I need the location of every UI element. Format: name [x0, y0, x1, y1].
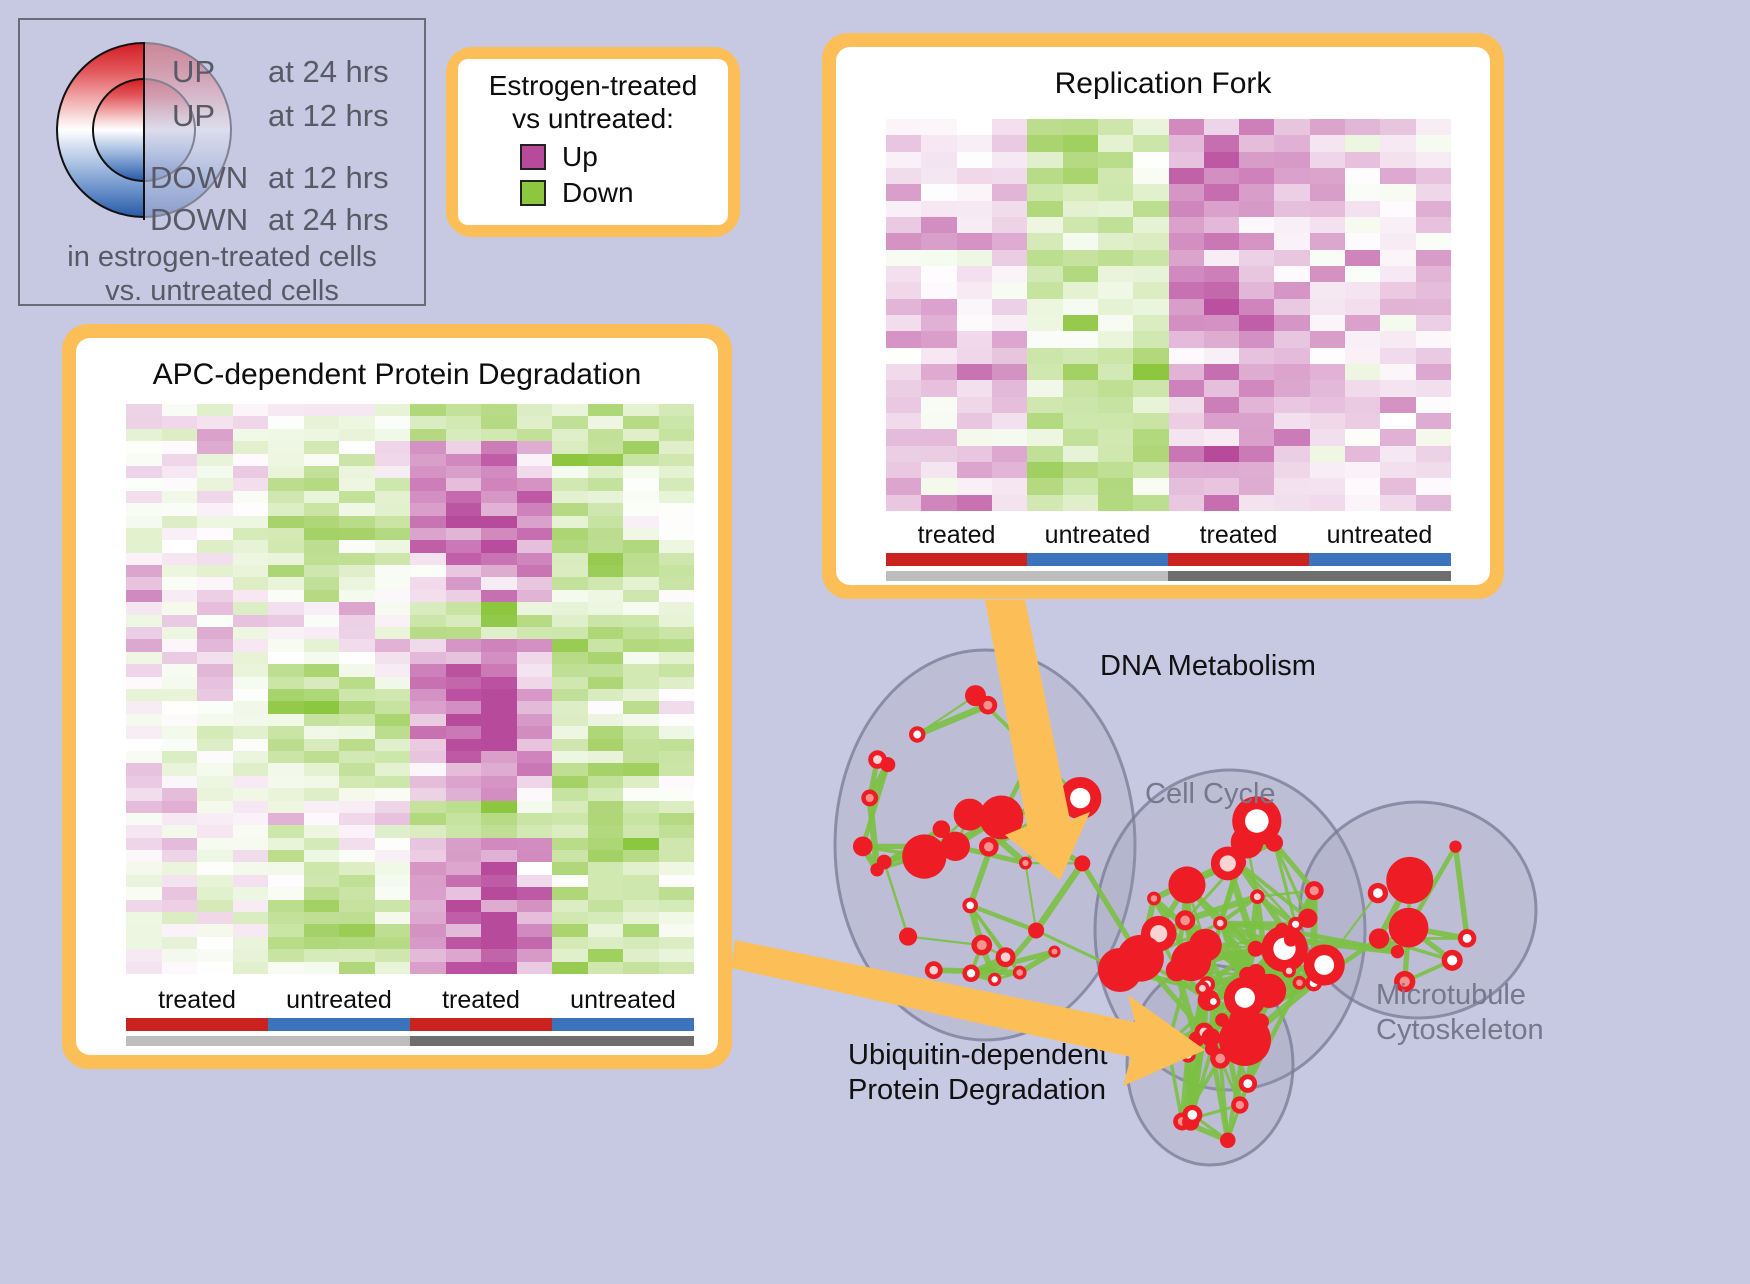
- heatmap-cell: [446, 937, 482, 949]
- heatmap-cell: [197, 516, 233, 528]
- heatmap-cell: [304, 862, 340, 874]
- heatmap-cell: [410, 565, 446, 577]
- heatmap-cell: [1063, 446, 1098, 462]
- heatmap-cell: [659, 466, 695, 478]
- heatmap-cell: [233, 491, 269, 503]
- heatmap-cell: [481, 478, 517, 490]
- heatmap-cell: [957, 413, 992, 429]
- heatmap-cell: [1345, 446, 1380, 462]
- heatmap-cell: [1169, 364, 1204, 380]
- heatmap-cell: [921, 184, 956, 200]
- heatmap-cell: [588, 924, 624, 936]
- heatmap-cell: [1133, 364, 1168, 380]
- heatmap-cell: [233, 454, 269, 466]
- heatmap-cell: [552, 763, 588, 775]
- heatmap-cell: [1063, 184, 1098, 200]
- heatmap-cell: [446, 726, 482, 738]
- heatmap-cell: [233, 962, 269, 974]
- heatmap-cell: [268, 924, 304, 936]
- node-outer-ring: [1098, 948, 1142, 992]
- heatmap-cell: [552, 441, 588, 453]
- heatmap-cell: [552, 689, 588, 701]
- heatmap-cell: [623, 565, 659, 577]
- legend-label-up: Up: [562, 141, 598, 173]
- heatmap-cell: [588, 900, 624, 912]
- heatmap-cell: [375, 875, 411, 887]
- network-node[interactable]: [1189, 929, 1222, 962]
- heatmap-cell: [1239, 446, 1274, 462]
- network-node[interactable]: [962, 965, 979, 982]
- heatmap-cell: [375, 714, 411, 726]
- heatmap-cell: [1133, 348, 1168, 364]
- figure-canvas: UP at 24 hrs UP at 12 hrs DOWN at 12 hrs…: [0, 0, 1750, 1279]
- network-node[interactable]: [1231, 1096, 1248, 1113]
- network-node[interactable]: [1248, 941, 1264, 957]
- heatmap-cell: [1169, 315, 1204, 331]
- heatmap-cell: [162, 404, 198, 416]
- heatmap-cell: [623, 478, 659, 490]
- heatmap-cell: [162, 454, 198, 466]
- heatmap-cell: [1380, 266, 1415, 282]
- heatmap-cell: [588, 788, 624, 800]
- heatmap-cell: [375, 726, 411, 738]
- heatmap-cell: [992, 217, 1027, 233]
- heatmap-cell: [197, 949, 233, 961]
- heatmap-cell: [197, 726, 233, 738]
- heatmap-cell: [410, 615, 446, 627]
- network-node[interactable]: [1147, 892, 1161, 906]
- heatmap-cell: [659, 801, 695, 813]
- heatmap-cell: [517, 503, 553, 515]
- heatmap-cell: [446, 577, 482, 589]
- network-node[interactable]: [1250, 889, 1265, 904]
- heatmap-cell: [375, 689, 411, 701]
- heatmap-cell: [588, 429, 624, 441]
- network-node[interactable]: [902, 834, 946, 878]
- heatmap-cell: [1310, 217, 1345, 233]
- network-node[interactable]: [996, 947, 1016, 967]
- heatmap-cell: [1063, 380, 1098, 396]
- heatmap-cell: [1169, 184, 1204, 200]
- heatmap-cell: [886, 364, 921, 380]
- heatmap-cell: [552, 701, 588, 713]
- network-node[interactable]: [853, 837, 873, 857]
- heatmap-cell: [1274, 135, 1309, 151]
- heatmap-cell: [481, 454, 517, 466]
- heatmap-cell: [992, 429, 1027, 445]
- heatmap-cell: [268, 875, 304, 887]
- heatmap-cell: [1416, 201, 1451, 217]
- heatmap-cell: [623, 776, 659, 788]
- network-node[interactable]: [1449, 841, 1461, 853]
- heatmap-cell: [446, 862, 482, 874]
- heatmap-cell: [410, 627, 446, 639]
- node-core: [1303, 914, 1312, 923]
- heatmap-cell: [268, 949, 304, 961]
- legend-panel: Estrogen-treated vs untreated: Up Down: [446, 47, 740, 237]
- heatmap-cell: [623, 763, 659, 775]
- heatmap-cell: [481, 887, 517, 899]
- network-node[interactable]: [1161, 1038, 1174, 1051]
- network-node[interactable]: [971, 935, 992, 956]
- heatmap-cell: [197, 813, 233, 825]
- heatmap-cell: [992, 184, 1027, 200]
- heatmap-cell: [1027, 168, 1062, 184]
- heatmap-cell: [126, 801, 162, 813]
- heatmap-cell: [886, 282, 921, 298]
- heatmap-cell: [1345, 184, 1380, 200]
- heatmap-cell: [659, 652, 695, 664]
- heatmap-cell: [268, 429, 304, 441]
- legend-item-down: Down: [520, 177, 634, 209]
- network-node[interactable]: [1369, 928, 1389, 948]
- network-node[interactable]: [1206, 995, 1220, 1009]
- heatmap-cell: [659, 528, 695, 540]
- heatmap-cell: [1027, 184, 1062, 200]
- node-core: [984, 842, 993, 851]
- heatmap-cell: [304, 962, 340, 974]
- node-outer-ring: [1219, 1014, 1271, 1066]
- network-svg: [790, 610, 1750, 1279]
- heatmap-cell: [659, 516, 695, 528]
- heatmap-cell: [1310, 266, 1345, 282]
- heatmap-cell: [886, 168, 921, 184]
- network-node[interactable]: [1175, 910, 1195, 930]
- heatmap-cell: [162, 652, 198, 664]
- network-node[interactable]: [979, 696, 998, 715]
- heatmap-cell: [304, 639, 340, 651]
- heatmap-cell: [517, 875, 553, 887]
- heatmap-cell: [446, 701, 482, 713]
- heatmap-cell: [304, 615, 340, 627]
- node-outer-ring: [1168, 866, 1205, 903]
- heatmap-cell: [481, 516, 517, 528]
- heatmap-cell: [339, 677, 375, 689]
- node-core: [1235, 988, 1255, 1008]
- heatmap-cell: [375, 652, 411, 664]
- heatmap-cell: [1027, 348, 1062, 364]
- heatmap-cell: [1274, 201, 1309, 217]
- heatmap-cell: [233, 924, 269, 936]
- network-node[interactable]: [1298, 909, 1317, 928]
- heatmap-cell: [162, 801, 198, 813]
- heatmap-cell: [126, 900, 162, 912]
- heatmap-cell: [1345, 429, 1380, 445]
- heatmap-cell: [517, 937, 553, 949]
- heatmap-cell: [1274, 495, 1309, 511]
- heatmap-cell: [339, 751, 375, 763]
- heatmap-cell: [268, 416, 304, 428]
- network-node[interactable]: [1182, 1105, 1202, 1125]
- heatmap-cell: [162, 900, 198, 912]
- heatmap-cell: [1204, 429, 1239, 445]
- heatmap-cell: [162, 639, 198, 651]
- heatmap-cell: [1345, 250, 1380, 266]
- heatmap-cell: [268, 850, 304, 862]
- heatmap-cell: [1274, 413, 1309, 429]
- heatmap-cell: [446, 739, 482, 751]
- heatmap-cell: [1239, 462, 1274, 478]
- heatmap-cell: [921, 397, 956, 413]
- network-node[interactable]: [1098, 948, 1142, 992]
- heatmap-cell: [1098, 462, 1133, 478]
- network-node[interactable]: [861, 790, 878, 807]
- heatmap-cell: [1133, 266, 1168, 282]
- network-node[interactable]: [1195, 981, 1209, 995]
- network-node[interactable]: [933, 820, 951, 838]
- heatmap-cell: [481, 751, 517, 763]
- network-node[interactable]: [1284, 933, 1298, 947]
- key-label-up-12: UP: [172, 98, 215, 134]
- heatmap-cell: [197, 677, 233, 689]
- heatmap-cell: [1133, 282, 1168, 298]
- node-core: [1022, 860, 1028, 866]
- heatmap-cell: [162, 887, 198, 899]
- heatmap-cell: [1416, 299, 1451, 315]
- key-caption-line2: vs. untreated cells: [20, 274, 424, 309]
- network-node[interactable]: [1048, 946, 1060, 958]
- heatmap-cell: [552, 838, 588, 850]
- heatmap-cell: [162, 602, 198, 614]
- heatmap-cell: [552, 466, 588, 478]
- heatmap-cell: [304, 602, 340, 614]
- heatmap-cell: [268, 739, 304, 751]
- network-node[interactable]: [1028, 922, 1044, 938]
- network-node[interactable]: [880, 757, 895, 772]
- heatmap-cell: [126, 503, 162, 515]
- network-node[interactable]: [1180, 1047, 1195, 1062]
- heatmap-cell: [233, 404, 269, 416]
- heatmap-cell: [588, 664, 624, 676]
- heatmap-cell: [1380, 495, 1415, 511]
- heatmap-cell: [1063, 282, 1098, 298]
- heatmap-cell: [375, 788, 411, 800]
- heatmap-cell: [126, 577, 162, 589]
- network-node[interactable]: [925, 961, 943, 979]
- color-key-box: UP at 24 hrs UP at 12 hrs DOWN at 12 hrs…: [18, 18, 426, 306]
- rf-col-label-0: treated: [886, 521, 1027, 550]
- heatmap-cell: [126, 825, 162, 837]
- heatmap-cell: [126, 739, 162, 751]
- heatmap-cell: [375, 466, 411, 478]
- heatmap-cell: [623, 875, 659, 887]
- heatmap-cell: [268, 801, 304, 813]
- network-node[interactable]: [1305, 881, 1324, 900]
- network-node[interactable]: [1074, 855, 1090, 871]
- heatmap-cell: [197, 454, 233, 466]
- heatmap-cell: [233, 825, 269, 837]
- heatmap-cell: [1098, 266, 1133, 282]
- heatmap-cell: [304, 652, 340, 664]
- heatmap-cell: [921, 446, 956, 462]
- network-node[interactable]: [1219, 1014, 1271, 1066]
- heatmap-cell: [517, 478, 553, 490]
- heatmap-cell: [1098, 250, 1133, 266]
- cluster-label-ubiquitin-degradation: Ubiquitin-dependent Protein Degradation: [848, 1038, 1108, 1108]
- network-node[interactable]: [1168, 866, 1205, 903]
- heatmap-cell: [1239, 266, 1274, 282]
- node-core: [1184, 1051, 1191, 1058]
- microtubule-line1: Microtubule: [1376, 978, 1544, 1013]
- network-node[interactable]: [1304, 944, 1345, 985]
- heatmap-cell: [410, 887, 446, 899]
- heatmap-cell: [446, 850, 482, 862]
- heatmap-cell: [446, 887, 482, 899]
- heatmap-cell: [446, 491, 482, 503]
- heatmap-cell: [481, 577, 517, 589]
- heatmap-cell: [921, 201, 956, 217]
- heatmap-cell: [126, 627, 162, 639]
- network-node[interactable]: [1201, 1028, 1220, 1047]
- node-core: [1243, 1079, 1252, 1088]
- heatmap-cell: [1204, 168, 1239, 184]
- heatmap-cell: [552, 825, 588, 837]
- heatmap-cell: [552, 677, 588, 689]
- heatmap-cell: [1274, 380, 1309, 396]
- heatmap-cell: [1204, 217, 1239, 233]
- heatmap-cell: [623, 553, 659, 565]
- heatmap-cell: [375, 602, 411, 614]
- heatmap-cell: [588, 714, 624, 726]
- heatmap-cell: [886, 135, 921, 151]
- network-node[interactable]: [988, 973, 1001, 986]
- heatmap-cell: [410, 714, 446, 726]
- heatmap-cell: [1345, 413, 1380, 429]
- heatmap-cell: [957, 397, 992, 413]
- node-core: [1453, 844, 1459, 850]
- heatmap-cell: [921, 462, 956, 478]
- node-core: [884, 761, 891, 768]
- heatmap-cell: [992, 168, 1027, 184]
- heatmap-cell: [233, 887, 269, 899]
- network-node[interactable]: [1013, 966, 1027, 980]
- heatmap-cell: [1310, 299, 1345, 315]
- heatmap-cell: [339, 949, 375, 961]
- heatmap-cell: [410, 689, 446, 701]
- heatmap-cell: [410, 404, 446, 416]
- heatmap-cell: [233, 429, 269, 441]
- heatmap-cell: [339, 726, 375, 738]
- heatmap-cell: [1204, 119, 1239, 135]
- heatmap-cell: [446, 441, 482, 453]
- heatmap-cell: [481, 862, 517, 874]
- network-node[interactable]: [909, 726, 925, 742]
- node-outer-ring: [979, 795, 1023, 839]
- heatmap-cell: [623, 949, 659, 961]
- network-node[interactable]: [899, 927, 917, 945]
- network-node[interactable]: [1019, 857, 1032, 870]
- heatmap-cell: [126, 924, 162, 936]
- network-node[interactable]: [979, 837, 999, 857]
- heatmap-cell: [1063, 217, 1098, 233]
- heatmap-cell: [1027, 135, 1062, 151]
- heatmap-cell: [588, 838, 624, 850]
- network-node[interactable]: [870, 863, 883, 876]
- heatmap-cell: [552, 664, 588, 676]
- network-node[interactable]: [1059, 777, 1101, 819]
- network-node[interactable]: [1220, 1133, 1236, 1149]
- heatmap-cell: [1098, 201, 1133, 217]
- heatmap-cell: [233, 528, 269, 540]
- heatmap-cell: [1345, 201, 1380, 217]
- heatmap-cell: [957, 429, 992, 445]
- network-node[interactable]: [962, 898, 978, 914]
- network-node[interactable]: [1211, 847, 1245, 881]
- heatmap-cell: [1098, 380, 1133, 396]
- heatmap-cell: [197, 751, 233, 763]
- heatmap-cell: [659, 441, 695, 453]
- heatmap-cell: [446, 714, 482, 726]
- heatmap-cell: [886, 266, 921, 282]
- heatmap-cell: [957, 184, 992, 200]
- network-node[interactable]: [1224, 977, 1266, 1019]
- heatmap-cell: [1380, 152, 1415, 168]
- network-node[interactable]: [1213, 916, 1227, 930]
- network-node[interactable]: [1293, 976, 1307, 990]
- heatmap-cell: [126, 962, 162, 974]
- heatmap-cell: [197, 627, 233, 639]
- heatmap-cell: [339, 429, 375, 441]
- heatmap-cell: [481, 701, 517, 713]
- heatmap-cell: [162, 503, 198, 515]
- network-node[interactable]: [979, 795, 1023, 839]
- heatmap-cell: [1098, 495, 1133, 511]
- node-core: [1206, 1033, 1215, 1042]
- heatmap-cell: [1239, 201, 1274, 217]
- heatmap-cell: [446, 788, 482, 800]
- heatmap-cell: [304, 404, 340, 416]
- heatmap-cell: [1345, 397, 1380, 413]
- network-node[interactable]: [1368, 883, 1388, 903]
- node-core: [881, 858, 888, 865]
- heatmap-cell: [659, 416, 695, 428]
- network-node[interactable]: [1282, 964, 1296, 978]
- heatmap-cell: [1169, 217, 1204, 233]
- heatmap-cell: [481, 689, 517, 701]
- network-node[interactable]: [1458, 929, 1476, 947]
- apc-title: APC-dependent Protein Degradation: [76, 358, 718, 392]
- heatmap-cell: [162, 491, 198, 503]
- heatmap-cell: [517, 689, 553, 701]
- heatmap-cell: [481, 404, 517, 416]
- heatmap-cell: [375, 801, 411, 813]
- heatmap-cell: [481, 801, 517, 813]
- heatmap-cell: [1380, 299, 1415, 315]
- network-node[interactable]: [1391, 945, 1404, 958]
- network-node[interactable]: [1442, 950, 1463, 971]
- replication-fork-panel-inner: Replication Fork treated untreated treat…: [836, 47, 1490, 585]
- network-node[interactable]: [954, 799, 986, 831]
- network-node[interactable]: [1015, 733, 1055, 773]
- heatmap-cell: [233, 565, 269, 577]
- node-outer-ring: [1386, 857, 1433, 904]
- heatmap-cell: [233, 466, 269, 478]
- heatmap-cell: [339, 416, 375, 428]
- heatmap-cell: [410, 788, 446, 800]
- heatmap-cell: [957, 233, 992, 249]
- heatmap-cell: [481, 850, 517, 862]
- network-node[interactable]: [1239, 1074, 1258, 1093]
- heatmap-cell: [304, 776, 340, 788]
- heatmap-cell: [339, 937, 375, 949]
- heatmap-cell: [268, 751, 304, 763]
- heatmap-cell: [375, 924, 411, 936]
- heatmap-cell: [623, 540, 659, 552]
- heatmap-cell: [1239, 184, 1274, 200]
- network-node[interactable]: [1389, 908, 1429, 948]
- node-core: [1292, 921, 1299, 928]
- network-node[interactable]: [1386, 857, 1433, 904]
